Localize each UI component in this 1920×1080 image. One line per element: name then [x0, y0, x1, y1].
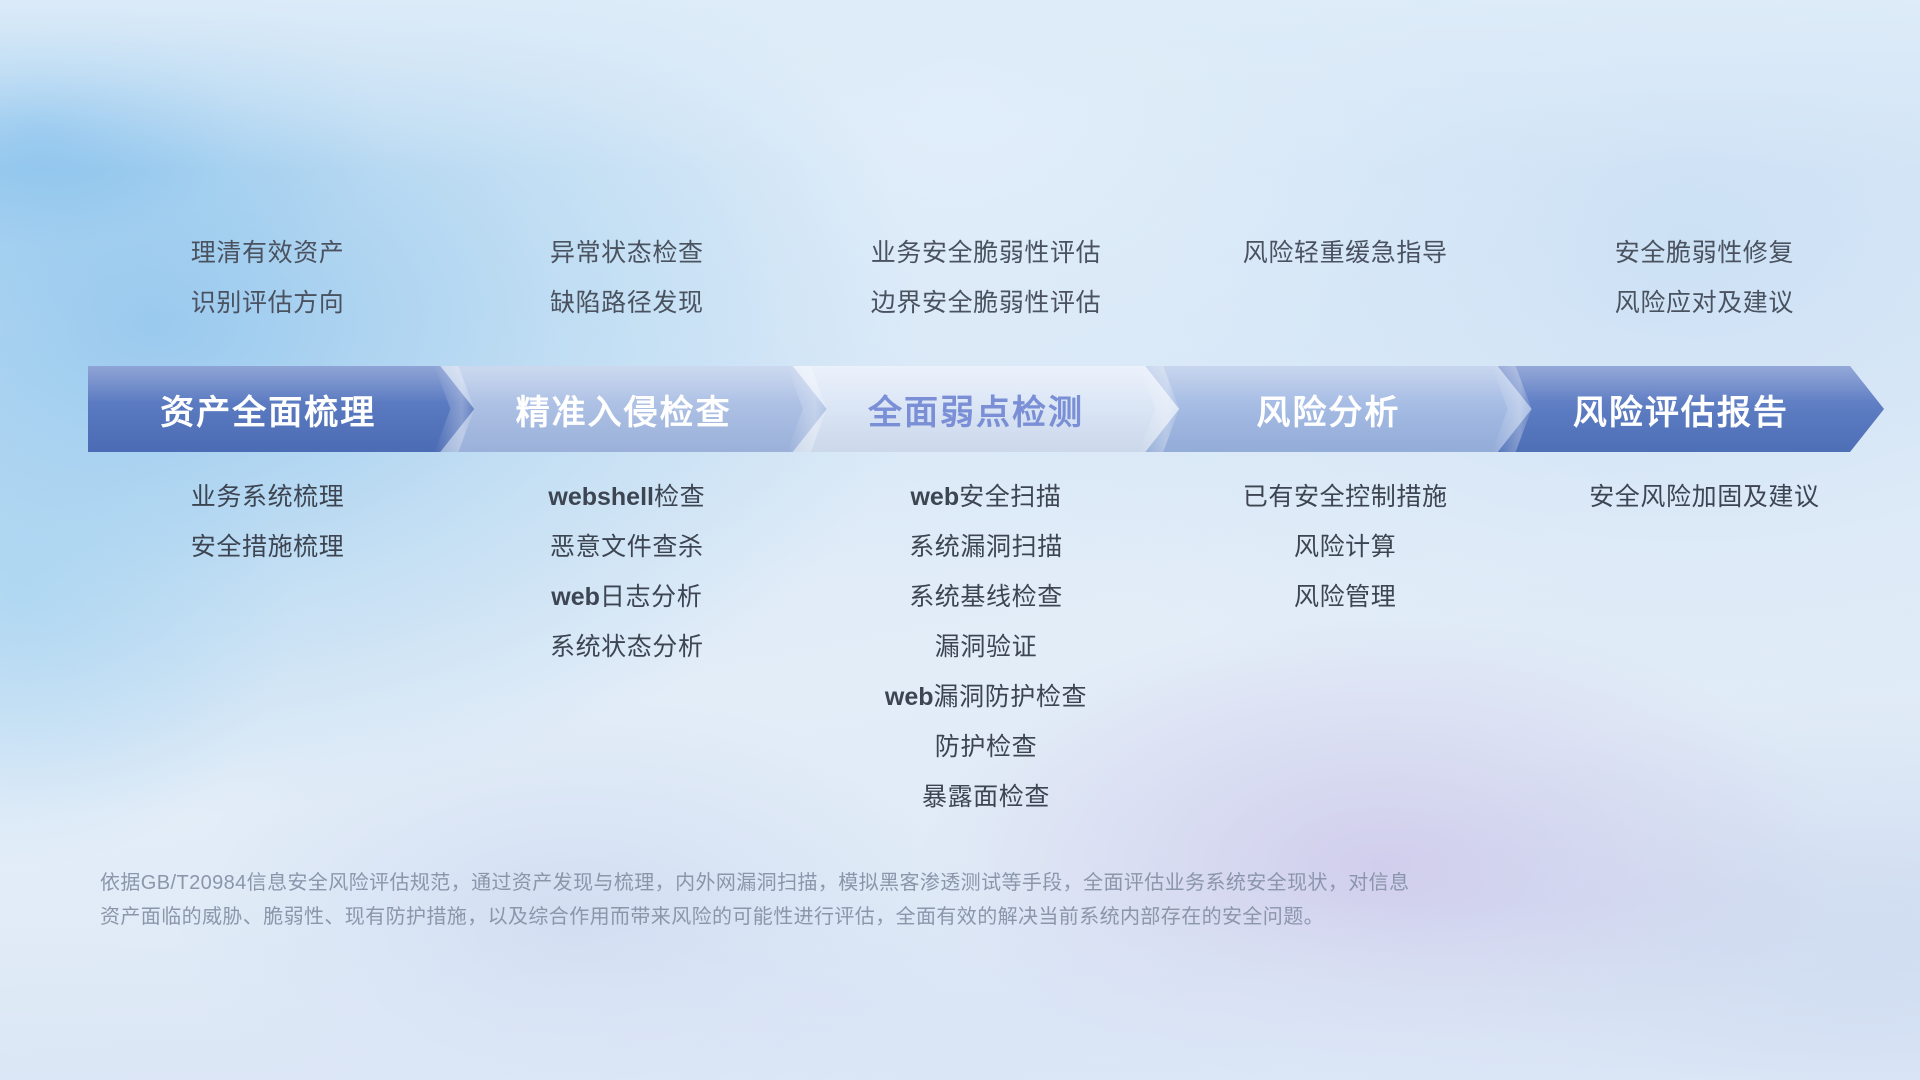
list-item: 防护检查	[812, 722, 1159, 772]
latin-token: web	[910, 483, 959, 511]
footer-line: 依据GB/T20984信息安全风险评估规范，通过资产发现与梳理，内外网漏洞扫描，…	[100, 866, 1800, 900]
bottom-list-risk-report: 安全风险加固及建议	[1525, 472, 1884, 822]
process-step-label: 资产全面梳理	[160, 385, 402, 434]
list-item: web日志分析	[453, 572, 800, 622]
top-captions-asset-inventory: 理清有效资产 识别评估方向	[88, 228, 447, 328]
list-item: 暴露面检查	[812, 772, 1159, 822]
list-item: 安全措施梳理	[94, 522, 441, 572]
footer-description: 依据GB/T20984信息安全风险评估规范，通过资产发现与梳理，内外网漏洞扫描，…	[100, 866, 1800, 934]
top-captions-risk-analysis: 风险轻重缓急指导	[1166, 228, 1525, 328]
list-item: 风险管理	[1172, 572, 1519, 622]
top-captions-weakness-detection: 业务安全脆弱性评估 边界安全脆弱性评估	[806, 228, 1165, 328]
process-step-asset-inventory[interactable]: 资产全面梳理	[88, 366, 474, 452]
latin-token: web	[551, 583, 600, 611]
bottom-list-risk-analysis: 已有安全控制措施 风险计算 风险管理	[1166, 472, 1525, 822]
bottom-list-weakness-detection: web安全扫描 系统漏洞扫描 系统基线检查 漏洞验证 web漏洞防护检查 防护检…	[806, 472, 1165, 822]
process-arrow-band: 资产全面梳理 精准入侵检查 全面弱点检测 风险分析 风险评估报告	[88, 366, 1884, 452]
list-item: 安全风险加固及建议	[1531, 472, 1878, 522]
top-captions-intrusion-check: 异常状态检查 缺陷路径发现	[447, 228, 806, 328]
list-item: 系统漏洞扫描	[812, 522, 1159, 572]
top-caption-line: 缺陷路径发现	[453, 278, 800, 328]
list-item: webshell检查	[453, 472, 800, 522]
top-caption-line: 异常状态检查	[453, 228, 800, 278]
list-item: 系统状态分析	[453, 622, 800, 672]
list-item: 恶意文件查杀	[453, 522, 800, 572]
list-item: 系统基线检查	[812, 572, 1159, 622]
process-step-label: 风险评估报告	[1573, 385, 1809, 434]
bottom-list-intrusion-check: webshell检查 恶意文件查杀 web日志分析 系统状态分析	[447, 472, 806, 822]
top-caption-line: 风险应对及建议	[1531, 278, 1878, 328]
top-captions-row: 理清有效资产 识别评估方向 异常状态检查 缺陷路径发现 业务安全脆弱性评估 边界…	[88, 228, 1884, 328]
top-caption-line: 理清有效资产	[94, 228, 441, 278]
list-item: 已有安全控制措施	[1172, 472, 1519, 522]
process-step-weakness-detection[interactable]: 全面弱点检测	[793, 366, 1179, 452]
bottom-list-asset-inventory: 业务系统梳理 安全措施梳理	[88, 472, 447, 822]
top-caption-line: 业务安全脆弱性评估	[812, 228, 1159, 278]
process-step-label: 全面弱点检测	[868, 385, 1104, 434]
bottom-lists-row: 业务系统梳理 安全措施梳理 webshell检查 恶意文件查杀 web日志分析 …	[88, 472, 1884, 822]
top-captions-risk-report: 安全脆弱性修复 风险应对及建议	[1525, 228, 1884, 328]
top-caption-line: 识别评估方向	[94, 278, 441, 328]
diagram-stage: 理清有效资产 识别评估方向 异常状态检查 缺陷路径发现 业务安全脆弱性评估 边界…	[0, 0, 1920, 1080]
list-item: 漏洞验证	[812, 622, 1159, 672]
top-caption-line: 边界安全脆弱性评估	[812, 278, 1159, 328]
process-step-label: 精准入侵检查	[516, 385, 752, 434]
list-item: web漏洞防护检查	[812, 672, 1159, 722]
process-step-risk-analysis[interactable]: 风险分析	[1145, 366, 1531, 452]
top-caption-line: 安全脆弱性修复	[1531, 228, 1878, 278]
process-step-risk-report[interactable]: 风险评估报告	[1498, 366, 1884, 452]
process-step-label: 风险分析	[1256, 385, 1420, 434]
latin-token: web	[885, 683, 934, 711]
list-item: web安全扫描	[812, 472, 1159, 522]
list-item: 风险计算	[1172, 522, 1519, 572]
top-caption-line: 风险轻重缓急指导	[1172, 228, 1519, 278]
footer-line: 资产面临的威胁、脆弱性、现有防护措施，以及综合作用而带来风险的可能性进行评估，全…	[100, 900, 1800, 934]
latin-token: webshell	[548, 483, 654, 511]
list-item: 业务系统梳理	[94, 472, 441, 522]
process-step-intrusion-check[interactable]: 精准入侵检查	[440, 366, 826, 452]
